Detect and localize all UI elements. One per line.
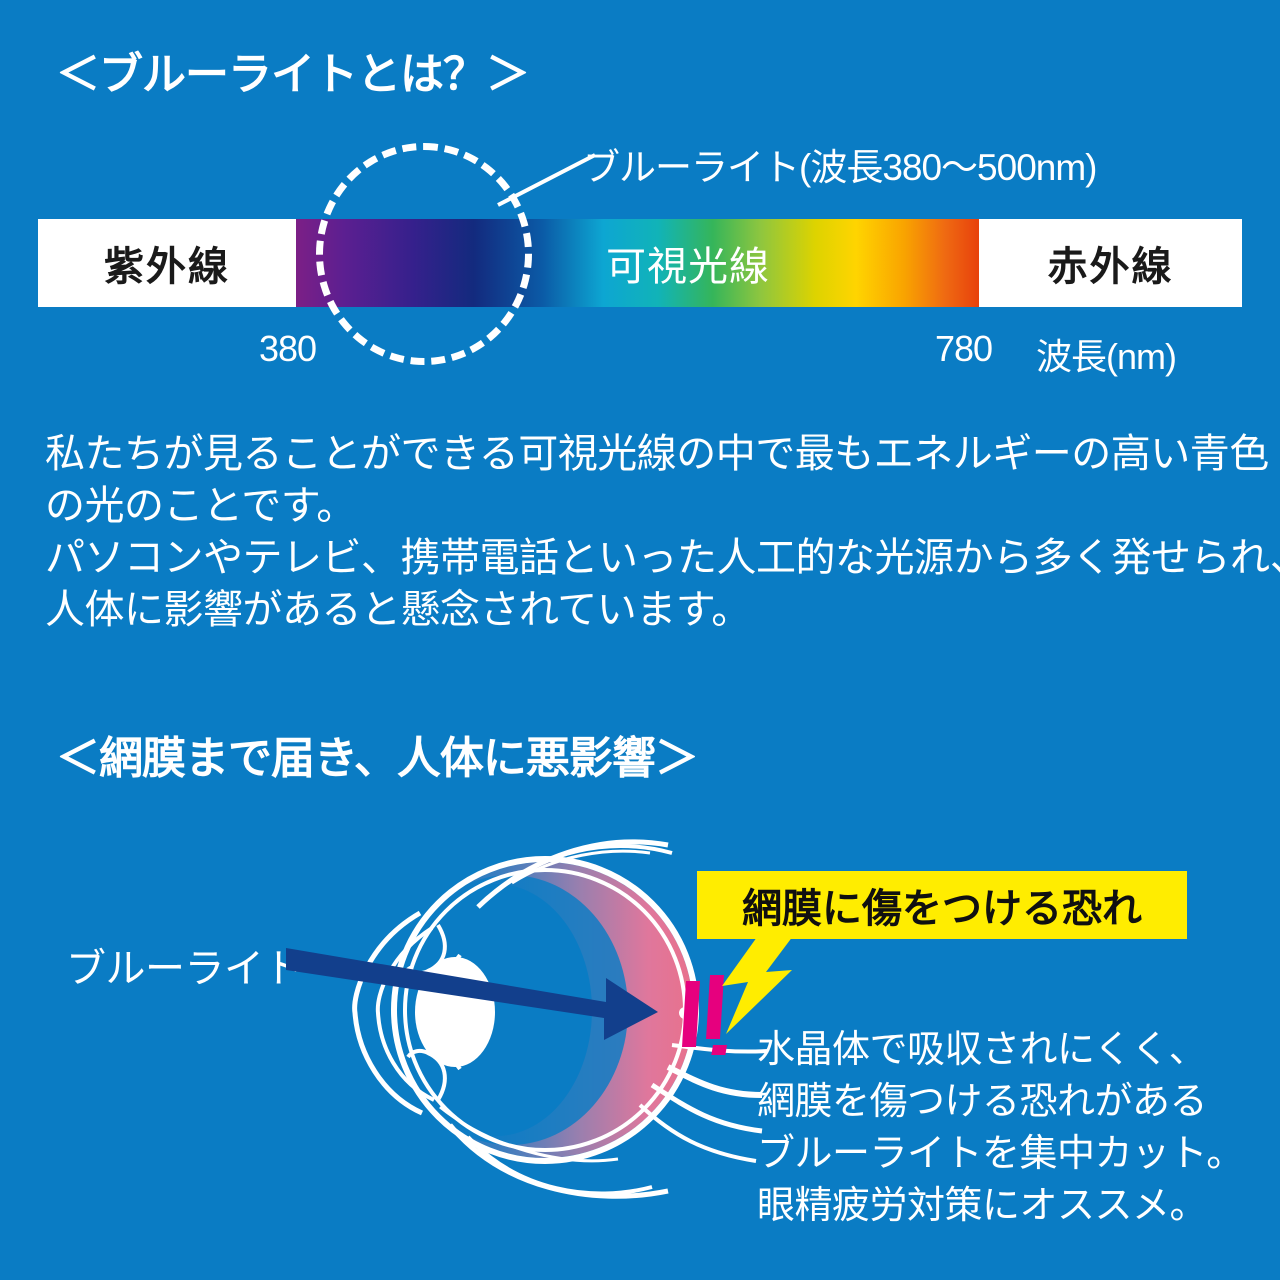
section-heading-retina-damage: ＜網膜まで届き、人体に悪影響＞: [56, 722, 698, 786]
axis-label-380: 380: [259, 328, 316, 370]
infrared-label: 赤外線: [979, 219, 1242, 307]
retina-warning-callout: 網膜に傷をつける恐れ: [697, 871, 1187, 939]
eye-desc-line-3: ブルーライトを集中カット。: [757, 1128, 1237, 1180]
eye-description-paragraph: 水晶体で吸収されにくく、 網膜を傷つける恐れがある ブルーライトを集中カット。 …: [757, 1024, 1237, 1232]
section-heading-blue-light: ＜ブルーライトとは？＞: [56, 38, 529, 102]
blue-light-range-callout: ブルーライト(波長380〜500nm): [583, 137, 1097, 191]
eye-desc-line-2: 網膜を傷つける恐れがある: [757, 1076, 1237, 1128]
blue-light-arrow-icon: [286, 940, 686, 1050]
intro-line-2: の光のことです。: [45, 480, 1245, 532]
blue-light-highlight-ellipse: [316, 143, 532, 365]
eye-desc-line-1: 水晶体で吸収されにくく、: [757, 1024, 1237, 1076]
axis-unit-label: 波長(nm): [1036, 328, 1176, 380]
retina-warning-label: 網膜に傷をつける恐れ: [742, 876, 1142, 934]
intro-line-3: パソコンやテレビ、携帯電話といった人工的な光源から多く発せられ、: [45, 532, 1245, 584]
axis-label-780: 780: [935, 328, 992, 370]
intro-line-1: 私たちが見ることができる可視光線の中で最もエネルギーの高い青色: [45, 428, 1245, 480]
lightning-bolt-icon: [700, 930, 810, 1040]
ultraviolet-label: 紫外線: [38, 219, 296, 307]
intro-paragraph: 私たちが見ることができる可視光線の中で最もエネルギーの高い青色 の光のことです。…: [45, 428, 1245, 636]
spectrum-bar: 紫外線 赤外線 可視光線: [38, 219, 1242, 307]
blue-light-arrow-label: ブルーライト: [66, 936, 303, 994]
spectrum-diagram: 紫外線 赤外線 可視光線: [38, 219, 1242, 307]
infographic-canvas: ＜ブルーライトとは？＞ ブルーライト(波長380〜500nm) 紫外線 赤外線 …: [0, 0, 1280, 1280]
intro-line-4: 人体に影響があると懸念されています。: [45, 584, 1245, 636]
visible-light-label: 可視光線: [558, 219, 818, 307]
eye-desc-line-4: 眼精疲労対策にオススメ。: [757, 1180, 1237, 1232]
